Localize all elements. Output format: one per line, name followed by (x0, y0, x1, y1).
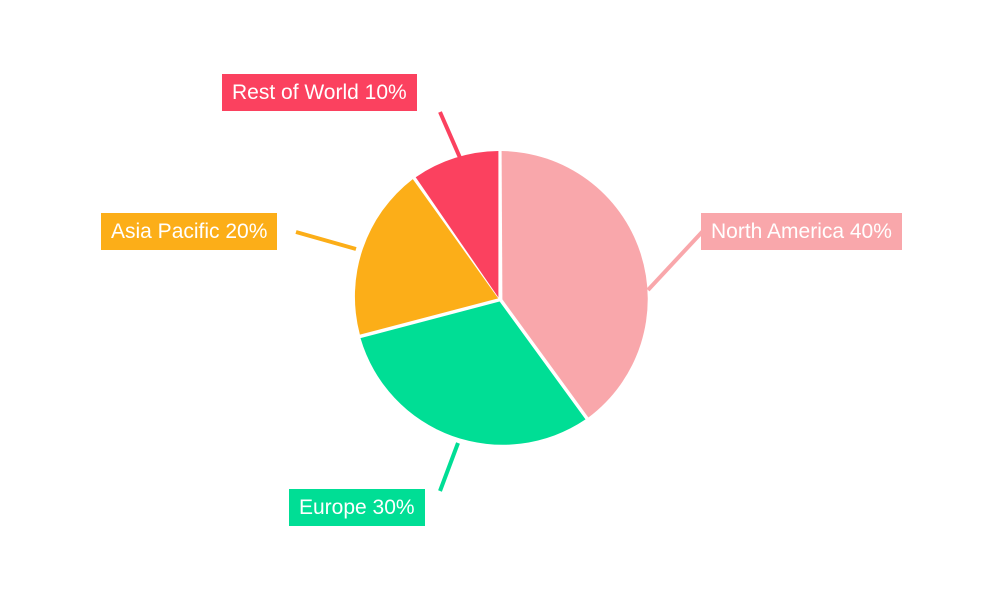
leader-line-europe (440, 443, 458, 491)
pie-label-rest-of-world: Rest of World 10% (222, 74, 417, 111)
pie-chart-figure: North America 40% Europe 30% Asia Pacifi… (0, 0, 1000, 600)
pie-label-north-america: North America 40% (701, 213, 902, 250)
leader-line-north-america (648, 231, 703, 290)
pie-label-europe: Europe 30% (289, 489, 425, 526)
pie-label-asia-pacific: Asia Pacific 20% (101, 213, 277, 250)
pie-chart-canvas (0, 0, 1000, 600)
leader-line-asia-pacific (296, 232, 356, 249)
